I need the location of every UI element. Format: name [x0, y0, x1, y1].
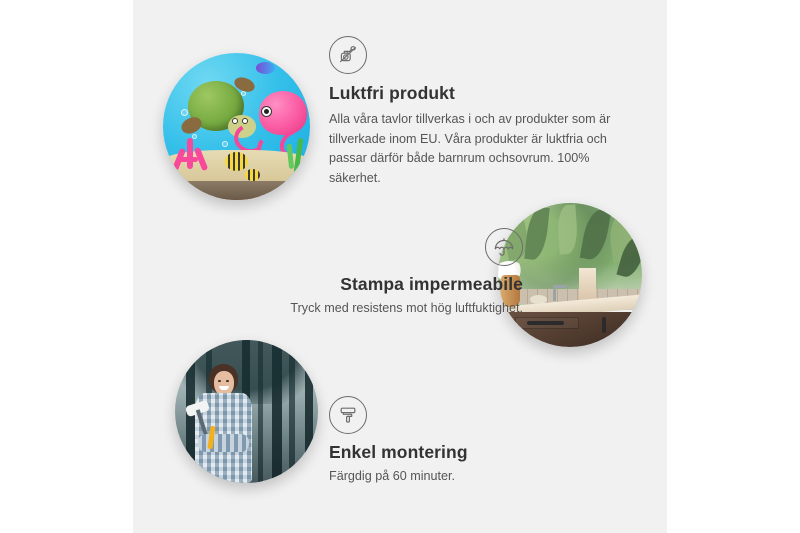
icon-wrap — [329, 36, 629, 74]
feature-description: Färgdig på 60 minuter. — [329, 467, 629, 487]
feature-title: Enkel montering — [329, 442, 629, 463]
leaf-shape — [580, 208, 612, 262]
yellow-fish-icon — [245, 169, 260, 181]
paint-roller-icon — [329, 396, 367, 434]
woman-arm — [198, 434, 249, 451]
leaf-shape — [557, 205, 579, 255]
towel — [579, 268, 596, 303]
sea-bottom-strip — [163, 181, 310, 200]
no-perfume-icon — [329, 36, 367, 74]
bubble-icon — [181, 109, 188, 116]
feature-waterproof: Stampa impermeabile Tryck med resistens … — [193, 228, 523, 319]
yellow-fish-icon — [225, 152, 249, 171]
feature-easy-install: Enkel montering Färgdig på 60 minuter. — [329, 396, 629, 487]
sea-scene — [163, 53, 310, 200]
purple-fish-icon — [256, 62, 275, 74]
product-image-sea[interactable] — [163, 53, 310, 200]
screenshot-canvas: Luktfri produkt Alla våra tavlor tillver… — [0, 0, 800, 533]
icon-wrap — [193, 228, 523, 274]
product-image-forest[interactable] — [175, 340, 318, 483]
turtle-eye — [232, 118, 238, 124]
leaf-shape — [524, 206, 550, 261]
faucet-icon — [553, 285, 556, 301]
bubble-icon — [222, 141, 228, 147]
octopus-eye — [261, 106, 272, 117]
feature-description: Tryck med resistens mot hög luftfuktighe… — [193, 299, 523, 319]
cabinet-handle — [602, 317, 606, 334]
umbrella-icon — [485, 228, 523, 266]
content-panel: Luktfri produkt Alla våra tavlor tillver… — [133, 0, 667, 533]
coral-icon — [172, 138, 210, 176]
feature-odourless: Luktfri produkt Alla våra tavlor tillver… — [329, 36, 629, 188]
forest-scene — [175, 340, 318, 483]
woman-eye — [218, 380, 221, 382]
feature-title: Luktfri produkt — [329, 83, 629, 104]
icon-wrap — [329, 396, 629, 434]
feature-description: Alla våra tavlor tillverkas i och av pro… — [329, 110, 629, 188]
feature-title: Stampa impermeabile — [193, 274, 523, 295]
soap-dish — [530, 295, 547, 304]
drawer-handle — [527, 321, 564, 325]
